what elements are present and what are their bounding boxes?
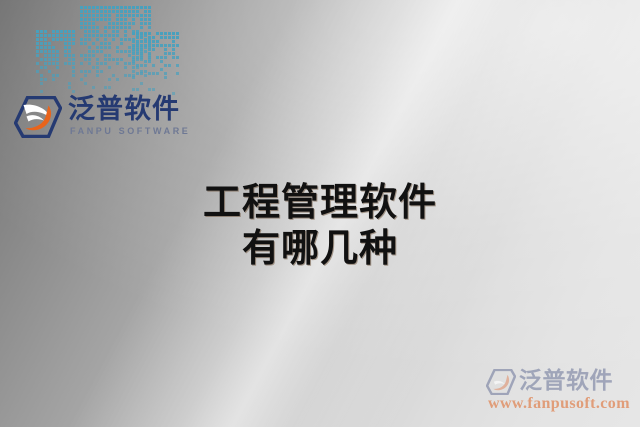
skyline-pixel <box>92 18 95 21</box>
skyline-pixel <box>124 30 127 33</box>
skyline-pixel <box>56 34 59 37</box>
skyline-pixel <box>80 14 83 17</box>
skyline-pixel <box>100 10 103 13</box>
skyline-pixel <box>148 10 151 13</box>
skyline-pixel <box>124 14 127 17</box>
skyline-pixel <box>120 26 123 29</box>
skyline-pixel <box>144 32 147 35</box>
skyline-pixel <box>140 6 143 9</box>
skyline-pixel <box>140 40 143 43</box>
skyline-pixel <box>60 30 63 33</box>
skyline-pixel <box>116 14 119 17</box>
skyline-pixel <box>104 34 107 37</box>
skyline-pixel <box>100 62 103 65</box>
skyline-pixel <box>68 42 71 45</box>
skyline-pixel <box>164 36 167 39</box>
skyline-pixel <box>92 54 95 57</box>
skyline-pixel <box>104 6 107 9</box>
skyline-pixel <box>148 36 151 39</box>
skyline-pixel <box>48 54 51 57</box>
skyline-pixel <box>164 64 167 67</box>
skyline-pixel <box>108 66 111 69</box>
skyline-pixel <box>56 50 59 53</box>
skyline-pixel <box>124 22 127 25</box>
skyline-pixel <box>64 54 67 57</box>
skyline-pixel <box>96 10 99 13</box>
skyline-pixel <box>36 30 39 33</box>
skyline-pixel <box>60 34 63 37</box>
skyline-pixel <box>80 70 83 73</box>
skyline-pixel <box>40 42 43 45</box>
skyline-pixel <box>48 70 51 73</box>
skyline-pixel <box>64 30 67 33</box>
skyline-pixel <box>116 34 119 37</box>
skyline-pixel <box>36 54 39 57</box>
skyline-pixel <box>128 74 131 77</box>
skyline-pixel <box>36 46 39 49</box>
skyline-pixel <box>108 10 111 13</box>
skyline-pixel <box>120 14 123 17</box>
skyline-pixel <box>96 26 99 29</box>
skyline-pixel <box>64 50 67 53</box>
skyline-pixel <box>148 88 151 91</box>
skyline-pixel <box>52 38 55 41</box>
skyline-pixel <box>48 46 51 49</box>
skyline-pixel <box>116 22 119 25</box>
skyline-pixel <box>128 6 131 9</box>
skyline-pixel <box>120 18 123 21</box>
skyline-pixel <box>84 14 87 17</box>
skyline-pixel <box>72 54 75 57</box>
skyline-pixel <box>80 42 83 45</box>
skyline-pixel <box>160 32 163 35</box>
skyline-pixel <box>128 54 131 57</box>
skyline-pixel <box>140 72 143 75</box>
skyline-pixel <box>40 38 43 41</box>
skyline-pixel <box>88 46 91 49</box>
skyline-pixel <box>176 36 179 39</box>
skyline-pixel <box>124 74 127 77</box>
skyline-pixel <box>92 10 95 13</box>
skyline-pixel <box>112 30 115 33</box>
skyline-pixel <box>92 26 95 29</box>
skyline-pixel <box>172 56 175 59</box>
skyline-pixel <box>96 74 99 77</box>
skyline-pixel <box>40 58 43 61</box>
skyline-pixel <box>140 48 143 51</box>
skyline-pixel <box>80 62 83 65</box>
skyline-pixel <box>88 30 91 33</box>
skyline-pixel <box>56 58 59 61</box>
skyline-pixel <box>132 14 135 17</box>
skyline-pixel <box>160 68 163 71</box>
skyline-pixel <box>132 60 135 63</box>
skyline-pixel <box>104 46 107 49</box>
skyline-pixel <box>104 42 107 45</box>
skyline-pixel <box>136 40 139 43</box>
skyline-pixel <box>164 48 167 51</box>
skyline-pixel <box>84 22 87 25</box>
skyline-pixel <box>36 38 39 41</box>
skyline-pixel <box>88 22 91 25</box>
skyline-pixel <box>44 46 47 49</box>
skyline-pixel <box>80 6 83 9</box>
skyline-pixel <box>128 26 131 29</box>
skyline-pixel <box>100 50 103 53</box>
skyline-pixel <box>160 56 163 59</box>
skyline-pixel <box>152 64 155 67</box>
brand-chinese-name: 泛普软件 <box>68 94 180 125</box>
skyline-pixel <box>128 22 131 25</box>
skyline-pixel <box>36 62 39 65</box>
skyline-pixel <box>100 34 103 37</box>
skyline-pixel <box>116 6 119 9</box>
skyline-pixel <box>120 50 123 53</box>
skyline-pixel <box>136 6 139 9</box>
brand-english-name: FANPU SOFTWARE <box>70 126 190 136</box>
skyline-pixel <box>96 66 99 69</box>
skyline-pixel <box>88 38 91 41</box>
skyline-pixel <box>104 18 107 21</box>
skyline-pixel <box>140 44 143 47</box>
skyline-pixel <box>148 6 151 9</box>
skyline-pixel <box>140 64 143 67</box>
skyline-pixel <box>52 30 55 33</box>
skyline-pixel <box>156 72 159 75</box>
skyline-pixel <box>96 70 99 73</box>
skyline-pixel <box>92 6 95 9</box>
skyline-pixel <box>132 10 135 13</box>
skyline-pixel <box>64 42 67 45</box>
skyline-pixel <box>132 88 135 91</box>
skyline-pixel <box>124 6 127 9</box>
skyline-pixel <box>116 10 119 13</box>
skyline-pixel <box>108 58 111 61</box>
skyline-pixel <box>176 56 179 59</box>
skyline-pixel <box>132 52 135 55</box>
skyline-pixel <box>48 50 51 53</box>
skyline-pixel <box>72 74 75 77</box>
skyline-pixel <box>84 26 87 29</box>
skyline-pixel <box>168 32 171 35</box>
page-title: 工程管理软件 有哪几种 <box>0 179 640 271</box>
skyline-pixel <box>96 46 99 49</box>
skyline-pixel <box>148 22 151 25</box>
skyline-pixel <box>156 56 159 59</box>
skyline-pixel <box>108 18 111 21</box>
skyline-pixel <box>140 18 143 21</box>
skyline-pixel <box>36 34 39 37</box>
skyline-pixel <box>68 54 71 57</box>
skyline-pixel <box>40 74 43 77</box>
skyline-pixel <box>104 26 107 29</box>
skyline-pixel <box>68 82 71 85</box>
skyline-pixel <box>176 72 179 75</box>
skyline-pixel <box>152 44 155 47</box>
skyline-pixel <box>92 30 95 33</box>
skyline-pixel <box>56 62 59 65</box>
skyline-pixel <box>104 54 107 57</box>
skyline-pixel <box>148 72 151 75</box>
skyline-pixel <box>124 62 127 65</box>
skyline-pixel <box>136 48 139 51</box>
skyline-pixel <box>124 66 127 69</box>
skyline-pixel <box>72 62 75 65</box>
skyline-pixel <box>84 58 87 61</box>
skyline-pixel <box>92 14 95 17</box>
skyline-pixel <box>104 38 107 41</box>
skyline-pixel <box>104 14 107 17</box>
skyline-pixel <box>48 58 51 61</box>
page-title-line-2: 有哪几种 <box>0 225 640 271</box>
skyline-pixel <box>92 34 95 37</box>
skyline-pixel <box>44 66 47 69</box>
skyline-pixel <box>92 42 95 45</box>
skyline-pixel <box>64 34 67 37</box>
skyline-pixel <box>136 72 139 75</box>
skyline-pixel <box>140 82 143 85</box>
skyline-pixel <box>88 34 91 37</box>
skyline-pixel <box>172 36 175 39</box>
skyline-pixel <box>168 36 171 39</box>
skyline-pixel <box>56 74 59 77</box>
skyline-pixel <box>108 34 111 37</box>
skyline-pixel <box>100 14 103 17</box>
fanpu-hexagon-logo-mark-faded-icon <box>486 369 516 395</box>
skyline-pixel <box>52 58 55 61</box>
skyline-pixel <box>96 30 99 33</box>
skyline-pixel <box>124 34 127 37</box>
skyline-pixel <box>116 62 119 65</box>
page-title-line-1: 工程管理软件 <box>0 179 640 225</box>
skyline-pixel <box>116 46 119 49</box>
skyline-pixel <box>112 22 115 25</box>
skyline-pixel <box>144 74 147 77</box>
skyline-pixel <box>48 42 51 45</box>
skyline-pixel <box>72 42 75 45</box>
skyline-pixel <box>120 38 123 41</box>
skyline-pixel <box>172 52 175 55</box>
skyline-pixel <box>136 52 139 55</box>
skyline-pixel <box>88 62 91 65</box>
skyline-pixel <box>100 46 103 49</box>
skyline-pixel <box>40 34 43 37</box>
skyline-pixel <box>80 54 83 57</box>
skyline-pixel <box>100 6 103 9</box>
skyline-pixel <box>104 86 107 89</box>
skyline-pixel <box>112 26 115 29</box>
skyline-pixel <box>148 32 151 35</box>
skyline-pixel <box>164 32 167 35</box>
skyline-pixel <box>128 62 131 65</box>
skyline-pixel <box>148 56 151 59</box>
skyline-pixel <box>52 74 55 77</box>
skyline-pixel <box>120 22 123 25</box>
skyline-pixel <box>144 10 147 13</box>
skyline-pixel <box>176 32 179 35</box>
skyline-pixel <box>84 10 87 13</box>
skyline-pixel <box>84 6 87 9</box>
slide-canvas: 泛普软件 FANPU SOFTWARE 工程管理软件 有哪几种 泛普软件 www… <box>0 0 640 427</box>
skyline-pixel <box>88 58 91 61</box>
pixel-skyline-graphic <box>36 2 156 92</box>
skyline-pixel <box>68 62 71 65</box>
skyline-pixel <box>84 54 87 57</box>
skyline-pixel <box>108 54 111 57</box>
skyline-pixel <box>148 44 151 47</box>
skyline-pixel <box>100 18 103 21</box>
skyline-pixel <box>172 48 175 51</box>
skyline-pixel <box>108 86 111 89</box>
skyline-pixel <box>116 18 119 21</box>
skyline-pixel <box>176 44 179 47</box>
skyline-pixel <box>164 56 167 59</box>
skyline-pixel <box>132 48 135 51</box>
skyline-pixel <box>148 18 151 21</box>
skyline-pixel <box>136 36 139 39</box>
skyline-pixel <box>140 56 143 59</box>
skyline-pixel <box>80 22 83 25</box>
skyline-pixel <box>84 18 87 21</box>
skyline-pixel <box>72 38 75 41</box>
skyline-pixel <box>148 40 151 43</box>
skyline-pixel <box>36 50 39 53</box>
watermark-chinese-name: 泛普软件 <box>519 367 613 394</box>
skyline-pixel <box>80 18 83 21</box>
skyline-pixel <box>136 14 139 17</box>
watermark-url: www.fanpusoft.com <box>488 395 630 413</box>
skyline-pixel <box>112 10 115 13</box>
skyline-pixel <box>144 18 147 21</box>
skyline-pixel <box>44 54 47 57</box>
skyline-pixel <box>108 78 111 81</box>
skyline-pixel <box>152 88 155 91</box>
skyline-pixel <box>100 70 103 73</box>
skyline-pixel <box>56 38 59 41</box>
skyline-pixel <box>64 62 67 65</box>
skyline-pixel <box>144 6 147 9</box>
skyline-pixel <box>88 50 91 53</box>
skyline-pixel <box>40 90 43 93</box>
skyline-pixel <box>44 78 47 81</box>
skyline-pixel <box>152 48 155 51</box>
skyline-pixel <box>148 52 151 55</box>
skyline-pixel <box>104 30 107 33</box>
skyline-pixel <box>88 70 91 73</box>
skyline-pixel <box>88 18 91 21</box>
skyline-pixel <box>140 32 143 35</box>
skyline-pixel <box>128 14 131 17</box>
skyline-pixel <box>148 60 151 63</box>
skyline-pixel <box>168 64 171 67</box>
skyline-pixel <box>72 58 75 61</box>
skyline-pixel <box>112 6 115 9</box>
skyline-pixel <box>52 54 55 57</box>
skyline-pixel <box>56 66 59 69</box>
skyline-pixel <box>64 38 67 41</box>
skyline-pixel <box>132 76 135 79</box>
skyline-pixel <box>72 66 75 69</box>
skyline-pixel <box>120 58 123 61</box>
skyline-pixel <box>132 6 135 9</box>
skyline-pixel <box>96 58 99 61</box>
skyline-pixel <box>116 58 119 61</box>
skyline-pixel <box>108 42 111 45</box>
skyline-pixel <box>144 70 147 73</box>
skyline-pixel <box>60 38 63 41</box>
skyline-pixel <box>136 56 139 59</box>
skyline-pixel <box>112 34 115 37</box>
skyline-pixel <box>148 48 151 51</box>
skyline-pixel <box>144 44 147 47</box>
skyline-pixel <box>96 14 99 17</box>
skyline-pixel <box>108 22 111 25</box>
skyline-pixel <box>36 42 39 45</box>
skyline-pixel <box>40 66 43 69</box>
skyline-pixel <box>112 74 115 77</box>
skyline-pixel <box>136 88 139 91</box>
skyline-pixel <box>132 56 135 59</box>
skyline-pixel <box>44 34 47 37</box>
skyline-pixel <box>52 46 55 49</box>
skyline-pixel <box>84 82 87 85</box>
skyline-pixel <box>124 50 127 53</box>
skyline-pixel <box>100 42 103 45</box>
skyline-pixel <box>68 34 71 37</box>
skyline-pixel <box>96 6 99 9</box>
skyline-pixel <box>92 22 95 25</box>
skyline-pixel <box>136 44 139 47</box>
skyline-pixel <box>140 52 143 55</box>
skyline-pixel <box>140 22 143 25</box>
skyline-pixel <box>40 82 43 85</box>
skyline-pixel <box>140 36 143 39</box>
skyline-pixel <box>172 44 175 47</box>
skyline-pixel <box>128 10 131 13</box>
skyline-pixel <box>40 78 43 81</box>
skyline-pixel <box>52 78 55 81</box>
skyline-pixel <box>48 62 51 65</box>
skyline-pixel <box>152 36 155 39</box>
skyline-pixel <box>96 50 99 53</box>
skyline-pixel <box>160 36 163 39</box>
skyline-pixel <box>164 72 167 75</box>
skyline-pixel <box>124 26 127 29</box>
skyline-pixel <box>168 52 171 55</box>
skyline-pixel <box>124 10 127 13</box>
fanpu-hexagon-logo-mark-icon <box>14 96 62 138</box>
skyline-pixel <box>168 44 171 47</box>
skyline-pixel <box>132 32 135 35</box>
skyline-pixel <box>112 58 115 61</box>
skyline-pixel <box>96 62 99 65</box>
skyline-pixel <box>148 26 151 29</box>
skyline-pixel <box>144 14 147 17</box>
skyline-pixel <box>132 44 135 47</box>
skyline-pixel <box>128 38 131 41</box>
skyline-pixel <box>144 40 147 43</box>
skyline-pixel <box>128 50 131 53</box>
skyline-pixel <box>52 34 55 37</box>
skyline-pixel <box>104 10 107 13</box>
skyline-pixel <box>44 30 47 33</box>
skyline-pixel <box>172 32 175 35</box>
skyline-pixel <box>116 26 119 29</box>
skyline-pixel <box>120 6 123 9</box>
skyline-pixel <box>116 78 119 81</box>
skyline-pixel <box>116 30 119 33</box>
skyline-pixel <box>84 70 87 73</box>
